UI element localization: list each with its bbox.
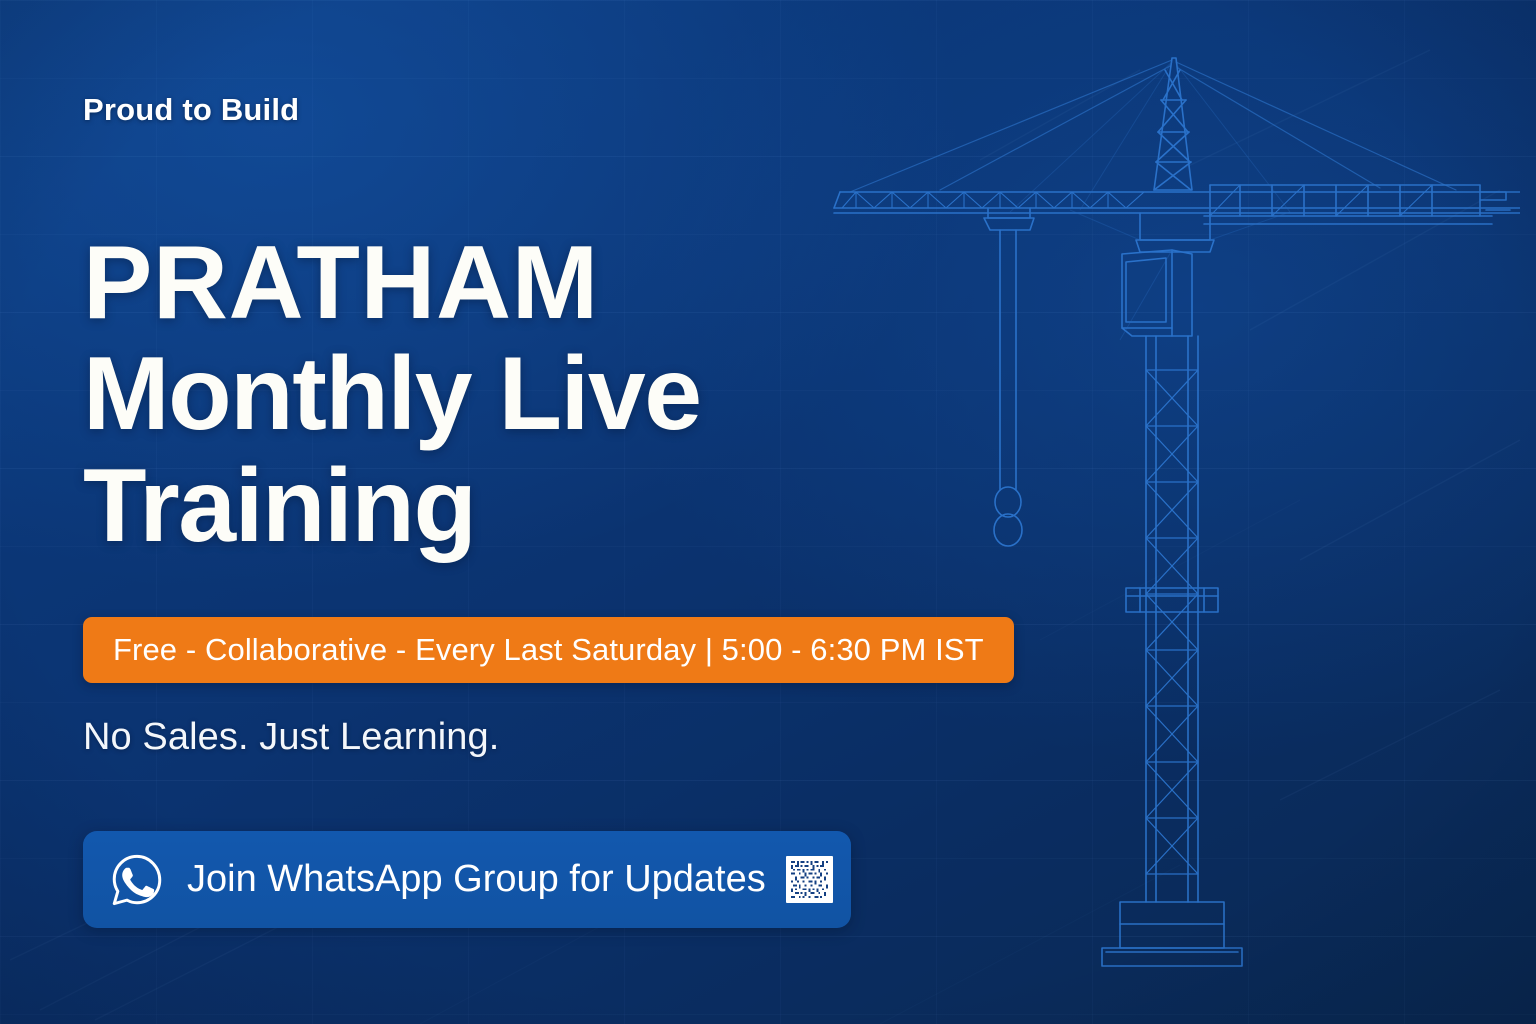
page-title: PRATHAM Monthly Live Training	[83, 228, 983, 562]
eyebrow-text: Proud to Build	[83, 92, 299, 128]
headline-line-3: Training	[83, 451, 983, 562]
whatsapp-icon	[109, 852, 165, 908]
poster-canvas: Proud to Build PRATHAM Monthly Live Trai…	[0, 0, 1536, 1024]
content-column: Proud to Build PRATHAM Monthly Live Trai…	[83, 0, 1143, 1024]
qr-code-icon[interactable]	[786, 856, 833, 903]
cta-label: Join WhatsApp Group for Updates	[187, 858, 766, 901]
headline-line-1: PRATHAM	[83, 228, 983, 339]
status-badge: Free - Collaborative - Every Last Saturd…	[83, 617, 1014, 683]
tagline-text: No Sales. Just Learning.	[83, 716, 499, 759]
headline-line-2: Monthly Live	[83, 339, 983, 450]
badge-label: Free - Collaborative - Every Last Saturd…	[113, 632, 984, 668]
join-whatsapp-group-button[interactable]: Join WhatsApp Group for Updates	[83, 831, 851, 928]
